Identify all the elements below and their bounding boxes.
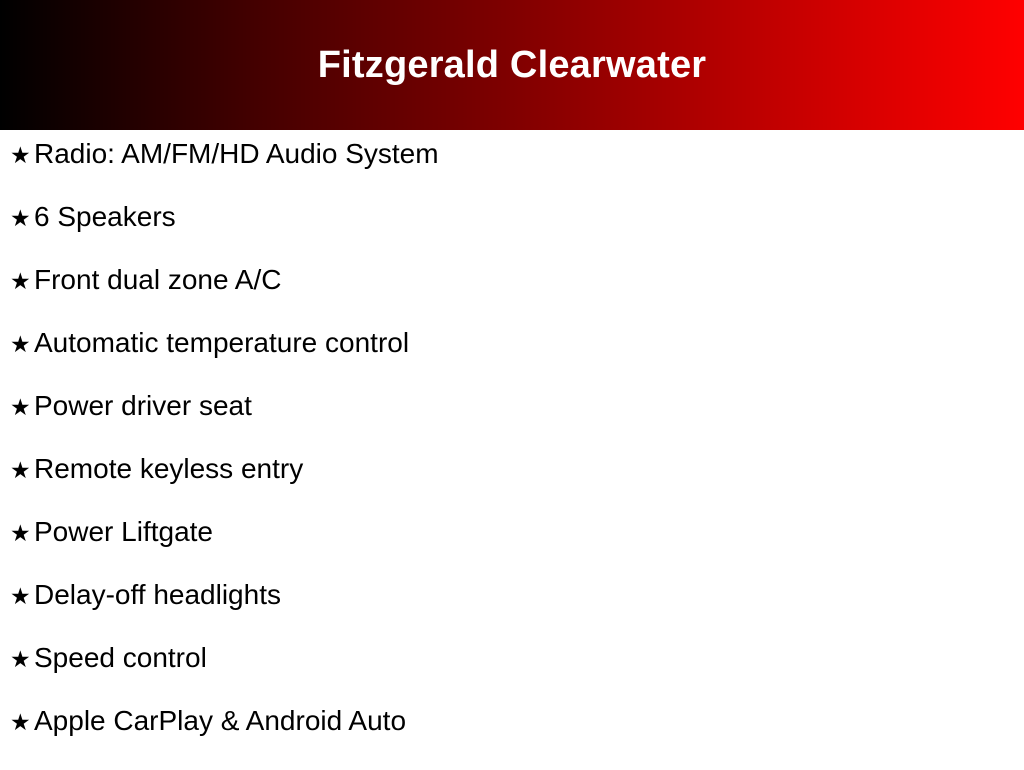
list-item-label: Power driver seat: [34, 392, 252, 420]
star-bullet-icon: ★: [0, 460, 34, 483]
list-item: ★ Automatic temperature control: [0, 329, 1024, 392]
star-bullet-icon: ★: [0, 397, 34, 420]
list-item: ★ Remote keyless entry: [0, 455, 1024, 518]
list-item-label: Remote keyless entry: [34, 455, 303, 483]
list-item-label: Automatic temperature control: [34, 329, 409, 357]
list-item-label: Delay-off headlights: [34, 581, 281, 609]
slide-canvas: Fitzgerald Clearwater ★ Radio: AM/FM/HD …: [0, 0, 1024, 768]
list-item-label: Radio: AM/FM/HD Audio System: [34, 140, 439, 168]
star-bullet-icon: ★: [0, 586, 34, 609]
list-item-label: Power Liftgate: [34, 518, 213, 546]
list-item: ★ 6 Speakers: [0, 203, 1024, 266]
list-item: ★ Radio: AM/FM/HD Audio System: [0, 140, 1024, 203]
star-bullet-icon: ★: [0, 523, 34, 546]
feature-list: ★ Radio: AM/FM/HD Audio System ★ 6 Speak…: [0, 140, 1024, 770]
star-bullet-icon: ★: [0, 208, 34, 231]
list-item: ★ Delay-off headlights: [0, 581, 1024, 644]
list-item-label: Apple CarPlay & Android Auto: [34, 707, 406, 735]
list-item-label: Front dual zone A/C: [34, 266, 281, 294]
list-item-label: Speed control: [34, 644, 207, 672]
header-banner: Fitzgerald Clearwater: [0, 0, 1024, 130]
list-item: ★ Power driver seat: [0, 392, 1024, 455]
star-bullet-icon: ★: [0, 649, 34, 672]
list-item: ★ Front dual zone A/C: [0, 266, 1024, 329]
star-bullet-icon: ★: [0, 271, 34, 294]
list-item: ★ Apple CarPlay & Android Auto: [0, 707, 1024, 770]
page-title: Fitzgerald Clearwater: [318, 46, 707, 84]
list-item: ★ Power Liftgate: [0, 518, 1024, 581]
star-bullet-icon: ★: [0, 145, 34, 168]
star-bullet-icon: ★: [0, 334, 34, 357]
list-item: ★ Speed control: [0, 644, 1024, 707]
list-item-label: 6 Speakers: [34, 203, 176, 231]
star-bullet-icon: ★: [0, 712, 34, 735]
